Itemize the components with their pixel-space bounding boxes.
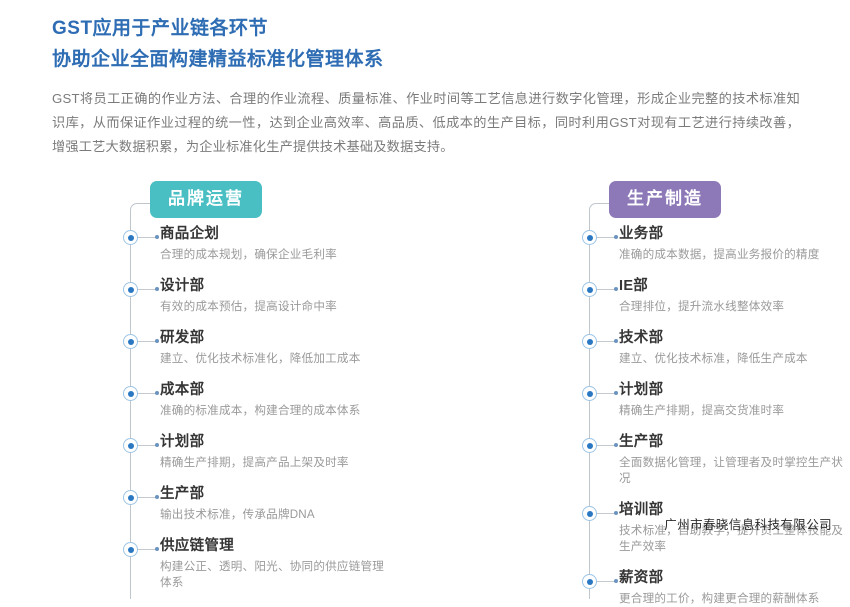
list-item[interactable]: 计划部 精确生产排期，提高交货准时率 xyxy=(581,381,850,419)
item-description: 全面数据化管理，让管理者及时掌控生产状况 xyxy=(619,455,850,487)
column-brand-operations: 品牌运营 商品企划 合理的成本规划，确保企业毛利率 设计部 有效的成本预估，提高… xyxy=(122,181,391,607)
item-title: 计划部 xyxy=(619,381,850,400)
page-header: GST应用于产业链各环节 协助企业全面构建精益标准化管理体系 GST将员工正确的… xyxy=(0,0,850,159)
node-connector-icon xyxy=(138,289,156,290)
item-description: 精确生产排期，提高产品上架及时率 xyxy=(160,455,391,471)
list-item[interactable]: 设计部 有效的成本预估，提高设计命中率 xyxy=(122,277,391,315)
list-item[interactable]: 计划部 精确生产排期，提高产品上架及时率 xyxy=(122,433,391,471)
node-dot-icon xyxy=(582,438,597,453)
item-description: 精确生产排期，提高交货准时率 xyxy=(619,403,850,419)
node-connector-icon xyxy=(597,289,615,290)
node-dot-icon xyxy=(582,282,597,297)
node-connector-icon xyxy=(597,581,615,582)
node-connector-icon xyxy=(597,237,615,238)
node-connector-icon xyxy=(138,497,156,498)
column-badge-production-manufacturing: 生产制造 xyxy=(609,181,721,218)
item-title: IE部 xyxy=(619,277,850,296)
item-title: 业务部 xyxy=(619,225,850,244)
column-badge-brand-operations: 品牌运营 xyxy=(150,181,262,218)
column-production-manufacturing: 生产制造 业务部 准确的成本数据，提高业务报价的精度 IE部 合理排位，提升流水… xyxy=(581,181,850,607)
node-connector-icon xyxy=(138,393,156,394)
node-bullet-icon xyxy=(614,443,618,447)
list-item[interactable]: 技术部 建立、优化技术标准，降低生产成本 xyxy=(581,329,850,367)
item-title: 计划部 xyxy=(160,433,391,452)
node-bullet-icon xyxy=(614,391,618,395)
node-dot-icon xyxy=(582,386,597,401)
node-connector-icon xyxy=(597,341,615,342)
node-dot-icon xyxy=(582,334,597,349)
node-connector-icon xyxy=(138,237,156,238)
list-item[interactable]: IE部 合理排位，提升流水线整体效率 xyxy=(581,277,850,315)
item-title: 薪资部 xyxy=(619,569,850,588)
node-bullet-icon xyxy=(614,287,618,291)
page-title-line-1: GST应用于产业链各环节 xyxy=(52,14,800,44)
list-item[interactable]: 供应链管理 构建公正、透明、阳光、协同的供应链管理体系 xyxy=(122,537,391,591)
node-dot-icon xyxy=(123,282,138,297)
item-description: 建立、优化技术标准化，降低加工成本 xyxy=(160,351,391,367)
node-dot-icon xyxy=(123,386,138,401)
item-description: 建立、优化技术标准，降低生产成本 xyxy=(619,351,850,367)
list-item[interactable]: 研发部 建立、优化技术标准化，降低加工成本 xyxy=(122,329,391,367)
node-connector-icon xyxy=(138,445,156,446)
node-bullet-icon xyxy=(155,495,159,499)
node-connector-icon xyxy=(138,341,156,342)
badge-row-left: 品牌运营 xyxy=(122,181,391,225)
item-description: 准确的标准成本，构建合理的成本体系 xyxy=(160,403,391,419)
item-description: 输出技术标准，传承品牌DNA xyxy=(160,507,391,523)
intro-paragraph: GST将员工正确的作业方法、合理的作业流程、质量标准、作业时间等工艺信息进行数字… xyxy=(52,87,800,159)
item-description: 有效的成本预估，提高设计命中率 xyxy=(160,299,391,315)
list-item[interactable]: 成本部 准确的标准成本，构建合理的成本体系 xyxy=(122,381,391,419)
node-bullet-icon xyxy=(614,339,618,343)
item-title: 成本部 xyxy=(160,381,391,400)
item-title: 设计部 xyxy=(160,277,391,296)
node-dot-icon xyxy=(123,490,138,505)
node-dot-icon xyxy=(582,574,597,589)
item-list-left: 商品企划 合理的成本规划，确保企业毛利率 设计部 有效的成本预估，提高设计命中率… xyxy=(122,225,391,591)
item-description: 合理的成本规划，确保企业毛利率 xyxy=(160,247,391,263)
branch-columns: 品牌运营 商品企划 合理的成本规划，确保企业毛利率 设计部 有效的成本预估，提高… xyxy=(0,181,850,607)
node-bullet-icon xyxy=(155,547,159,551)
item-description: 准确的成本数据，提高业务报价的精度 xyxy=(619,247,850,263)
node-bullet-icon xyxy=(614,579,618,583)
footer-company-name: 广州市春晓信息科技有限公司 xyxy=(664,514,832,533)
item-description: 合理排位，提升流水线整体效率 xyxy=(619,299,850,315)
node-bullet-icon xyxy=(155,287,159,291)
item-title: 生产部 xyxy=(619,433,850,452)
list-item[interactable]: 业务部 准确的成本数据，提高业务报价的精度 xyxy=(581,225,850,263)
node-bullet-icon xyxy=(614,511,618,515)
node-dot-icon xyxy=(123,230,138,245)
node-bullet-icon xyxy=(155,235,159,239)
list-item[interactable]: 薪资部 更合理的工价，构建更合理的薪酬体系 xyxy=(581,569,850,607)
item-title: 供应链管理 xyxy=(160,537,391,556)
item-title: 技术部 xyxy=(619,329,850,348)
node-bullet-icon xyxy=(155,339,159,343)
list-item[interactable]: 生产部 全面数据化管理，让管理者及时掌控生产状况 xyxy=(581,433,850,487)
item-description: 更合理的工价，构建更合理的薪酬体系 xyxy=(619,591,850,607)
node-bullet-icon xyxy=(155,443,159,447)
node-bullet-icon xyxy=(614,235,618,239)
item-title: 商品企划 xyxy=(160,225,391,244)
page-title-line-2: 协助企业全面构建精益标准化管理体系 xyxy=(52,44,800,75)
node-dot-icon xyxy=(123,438,138,453)
node-dot-icon xyxy=(582,230,597,245)
node-dot-icon xyxy=(123,542,138,557)
item-title: 生产部 xyxy=(160,485,391,504)
node-dot-icon xyxy=(582,506,597,521)
item-list-right: 业务部 准确的成本数据，提高业务报价的精度 IE部 合理排位，提升流水线整体效率… xyxy=(581,225,850,607)
node-bullet-icon xyxy=(155,391,159,395)
list-item[interactable]: 商品企划 合理的成本规划，确保企业毛利率 xyxy=(122,225,391,263)
node-connector-icon xyxy=(597,513,615,514)
item-title: 研发部 xyxy=(160,329,391,348)
node-connector-icon xyxy=(597,445,615,446)
item-description: 构建公正、透明、阳光、协同的供应链管理体系 xyxy=(160,559,391,591)
node-connector-icon xyxy=(597,393,615,394)
badge-row-right: 生产制造 xyxy=(581,181,850,225)
node-dot-icon xyxy=(123,334,138,349)
list-item[interactable]: 生产部 输出技术标准，传承品牌DNA xyxy=(122,485,391,523)
node-connector-icon xyxy=(138,549,156,550)
